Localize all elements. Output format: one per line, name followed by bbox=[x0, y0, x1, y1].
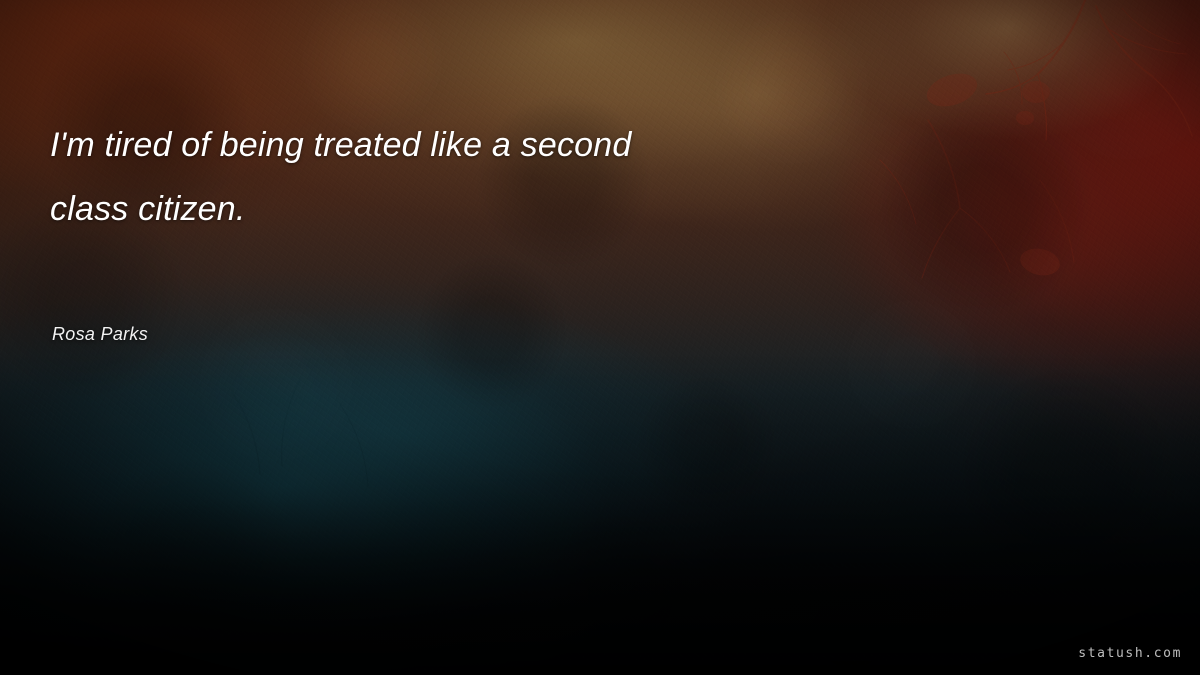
quote-text: I'm tired of being treated like a second… bbox=[50, 113, 750, 241]
quote-card: I'm tired of being treated like a second… bbox=[0, 0, 1200, 675]
watermark-label: statush.com bbox=[1078, 646, 1182, 662]
quote-author: Rosa Parks bbox=[52, 322, 148, 346]
quote-content: I'm tired of being treated like a second… bbox=[0, 0, 1200, 675]
